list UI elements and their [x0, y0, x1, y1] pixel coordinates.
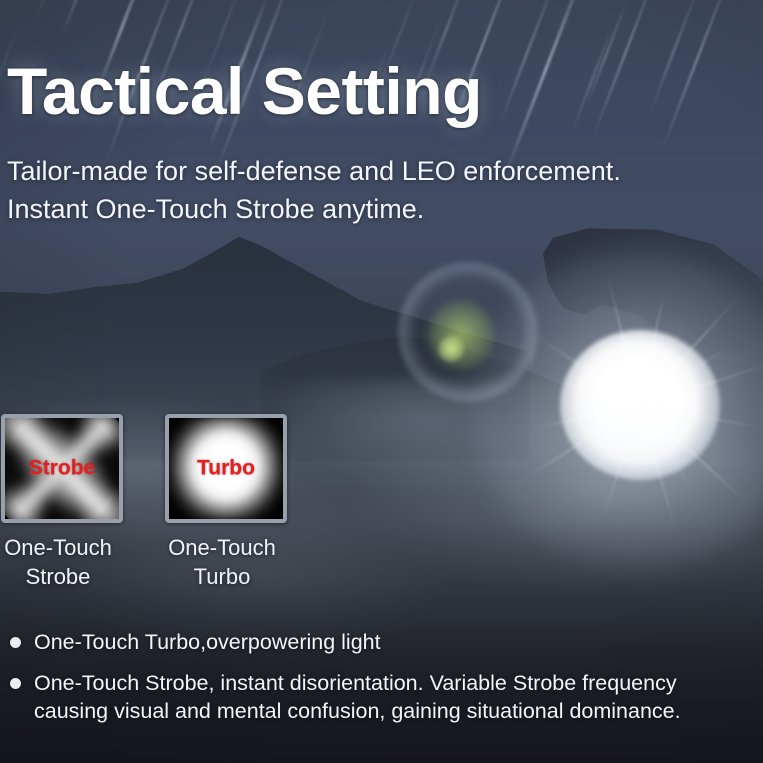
subtitle-line-2: Instant One-Touch Strobe anytime.: [7, 190, 621, 228]
list-item: One-Touch Strobe, instant disorientation…: [8, 669, 760, 725]
bullet-dot-icon: [10, 678, 21, 689]
tactical-setting-slide: Tactical Setting Tailor-made for self-de…: [0, 0, 763, 763]
subtitle-block: Tailor-made for self-defense and LEO enf…: [7, 152, 621, 228]
page-title: Tactical Setting: [7, 58, 482, 124]
slide-content: Tactical Setting Tailor-made for self-de…: [0, 0, 763, 763]
bullet-2-line-2: causing visual and mental confusion, gai…: [34, 699, 681, 723]
list-item: One-Touch Turbo,overpowering light: [8, 628, 760, 656]
bullet-dot-icon: [10, 637, 21, 648]
caption-strobe-line-2: Strobe: [0, 562, 118, 591]
caption-strobe: One-Touch Strobe: [0, 533, 118, 591]
caption-turbo: One-Touch Turbo: [162, 533, 282, 591]
subtitle-line-1: Tailor-made for self-defense and LEO enf…: [7, 152, 621, 190]
caption-turbo-line-1: One-Touch: [162, 533, 282, 562]
feature-bullet-list: One-Touch Turbo,overpowering light One-T…: [8, 628, 760, 738]
badge-label-turbo: Turbo: [169, 456, 283, 480]
mode-badge-strobe[interactable]: Strobe: [1, 414, 123, 523]
caption-turbo-line-2: Turbo: [162, 562, 282, 591]
badge-label-strobe: Strobe: [5, 456, 119, 480]
mode-badge-turbo[interactable]: Turbo: [165, 414, 287, 523]
bullet-1-line-1: One-Touch Turbo,overpowering light: [34, 630, 381, 654]
caption-strobe-line-1: One-Touch: [0, 533, 118, 562]
bullet-2-line-1: One-Touch Strobe, instant disorientation…: [34, 671, 677, 695]
